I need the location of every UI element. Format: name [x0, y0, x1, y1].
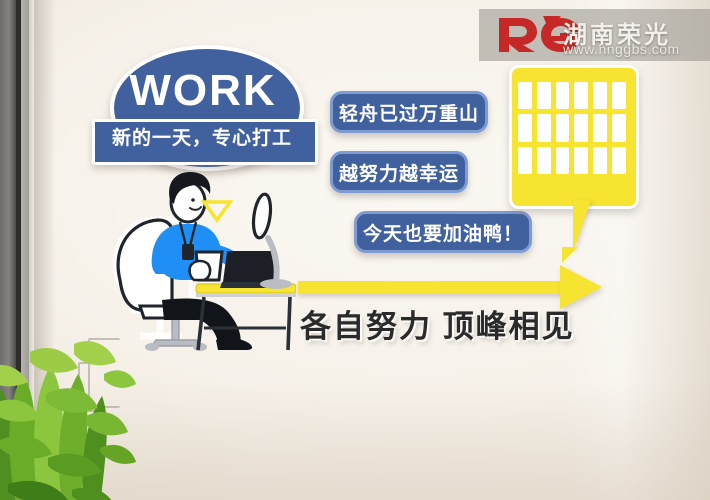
grid-cell [518, 114, 532, 141]
grid-cell [593, 114, 607, 141]
grid-cell [612, 82, 626, 109]
slogan-pill-2: 越努力越幸运 [330, 151, 468, 193]
bubble-calendar-grid [518, 82, 626, 174]
grid-cell [593, 82, 607, 109]
watermark-url: www.hnggbs.com [563, 41, 680, 57]
grid-cell [593, 147, 607, 174]
grid-cell [556, 114, 570, 141]
arrow-shaft [298, 281, 568, 294]
grid-cell [556, 82, 570, 109]
badge-card [182, 244, 194, 260]
grid-cell [537, 147, 551, 174]
screenshot-stage: WORK 新的一天，专心打工 轻舟已过万重山 越努力越幸运 今天也要加油鸭！ 各… [0, 0, 710, 500]
chair-base [152, 340, 200, 346]
speech-bubble-tail [573, 200, 591, 252]
hand [190, 261, 211, 280]
grid-cell [574, 114, 588, 141]
work-badge: WORK 新的一天，专心打工 [92, 45, 312, 165]
grid-cell [574, 147, 588, 174]
slogan-pill-3: 今天也要加油鸭！ [354, 211, 532, 253]
grid-cell [574, 82, 588, 109]
work-ribbon-label: 新的一天，专心打工 [92, 125, 312, 153]
grid-cell [612, 114, 626, 141]
desk-worker-icon [100, 160, 296, 352]
grid-cell [556, 147, 570, 174]
speech-bubble-tail-tip [562, 247, 578, 263]
grid-cell [537, 82, 551, 109]
grid-cell [537, 114, 551, 141]
main-slogan: 各自努力 顶峰相见 [300, 301, 580, 346]
desk-edge [196, 293, 296, 297]
grid-cell [518, 147, 532, 174]
grid-cell [612, 147, 626, 174]
chair-post [172, 318, 179, 340]
yellow-triangle-icon [204, 202, 230, 220]
work-title: WORK [110, 69, 296, 113]
shoe [216, 338, 252, 350]
laptop-screen [224, 252, 276, 282]
desk-worker-illustration [100, 160, 296, 352]
grid-cell [518, 82, 532, 109]
slogan-pill-1: 轻舟已过万重山 [330, 91, 488, 133]
